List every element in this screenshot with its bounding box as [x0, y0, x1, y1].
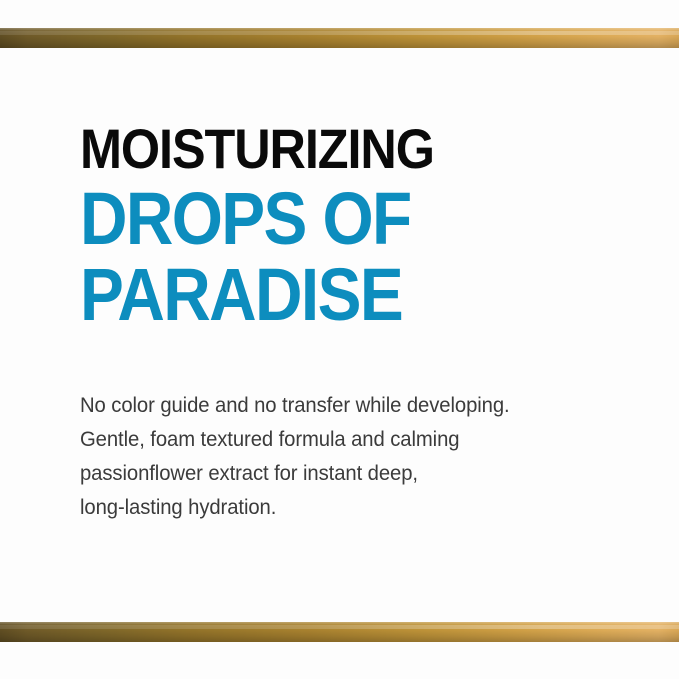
gold-divider-top	[0, 28, 679, 48]
headline-accent-line-2: PARADISE	[80, 259, 542, 332]
body-copy: No color guide and no transfer while dev…	[80, 388, 610, 524]
body-copy-line: Gentle, foam textured formula and calmin…	[80, 422, 580, 456]
body-copy-line: long-lasting hydration.	[80, 490, 580, 524]
gold-divider-sheen	[0, 31, 679, 35]
headline-primary: MOISTURIZING	[80, 122, 548, 177]
marketing-panel: MOISTURIZING DROPS OF PARADISE No color …	[0, 0, 679, 679]
gold-divider-bottom	[0, 622, 679, 642]
body-copy-line: passionflower extract for instant deep,	[80, 456, 580, 490]
gold-divider-sheen	[0, 625, 679, 629]
headline-accent-line-1: DROPS OF	[80, 183, 542, 256]
headline-block: MOISTURIZING DROPS OF PARADISE	[80, 122, 600, 332]
body-copy-line: No color guide and no transfer while dev…	[80, 388, 580, 422]
